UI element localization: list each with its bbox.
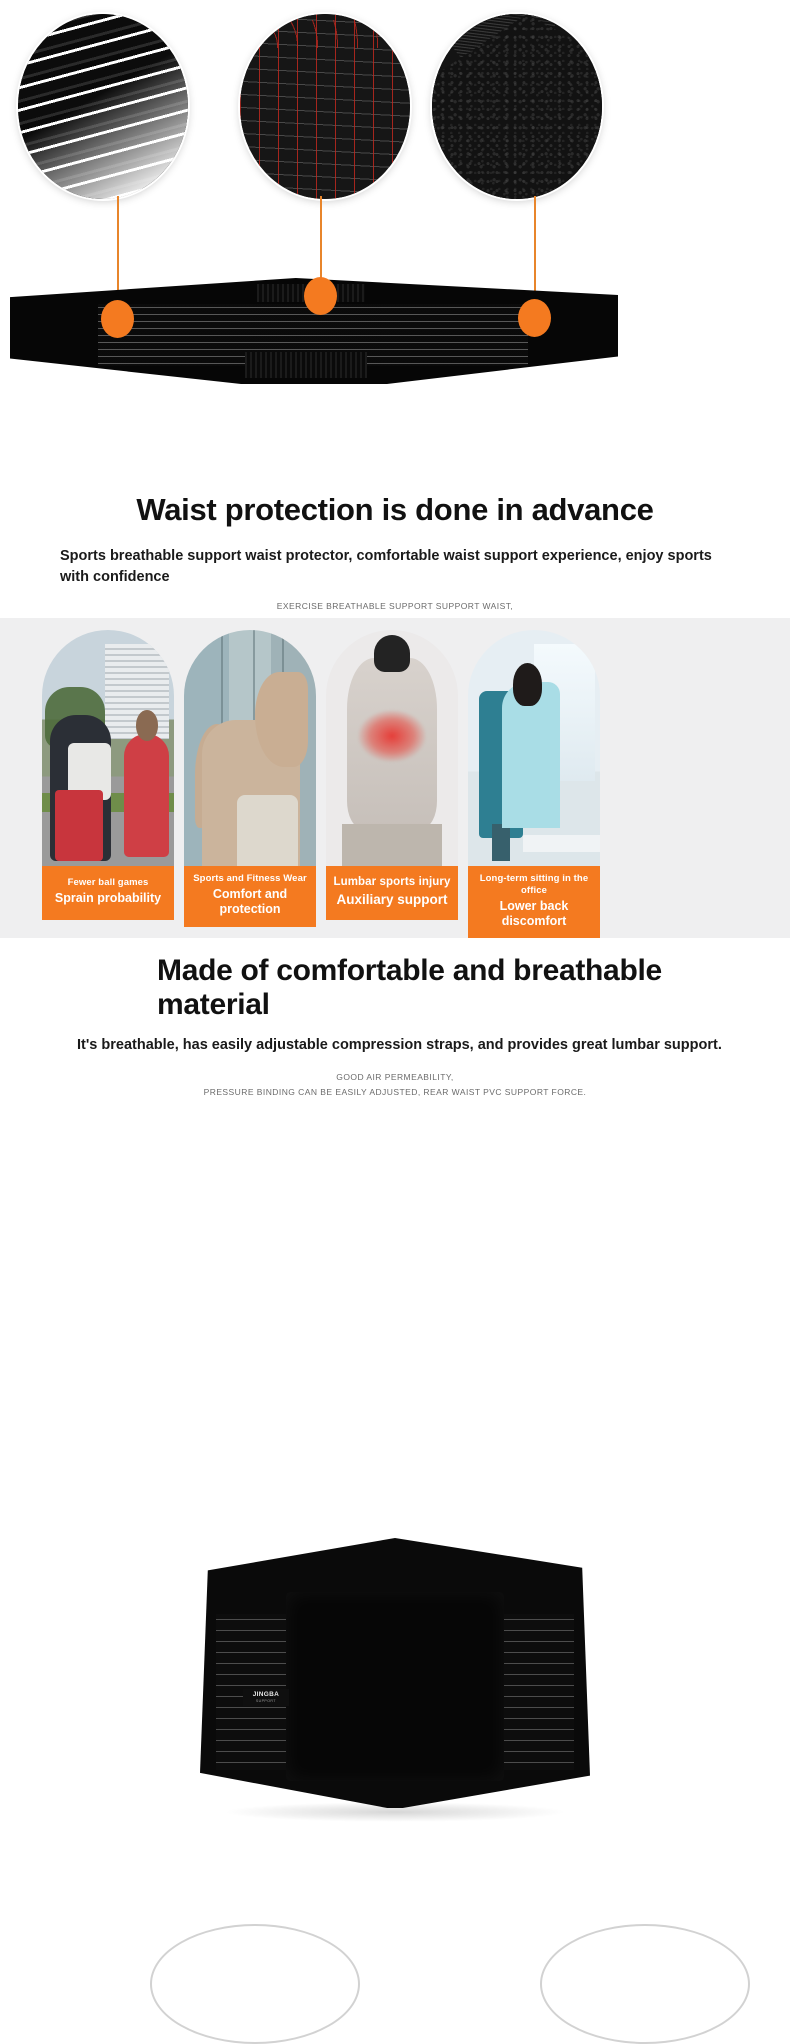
use-case-caption-back-pain: Lumbar sports injury Auxiliary support xyxy=(326,866,458,920)
brand-name-text: JINGBA xyxy=(253,1692,279,1699)
headline-two-subtitle: It's breathable, has easily adjustable c… xyxy=(65,1035,725,1056)
use-case-caption-basketball: Fewer ball games Sprain probability xyxy=(42,866,174,920)
headline-two-caps-line-2: PRESSURE BINDING CAN BE EASILY ADJUSTED,… xyxy=(0,1085,790,1101)
product-belt-photo: JINGBA SUPPORT xyxy=(200,1538,590,1808)
velcro-fleece-texture xyxy=(432,14,602,199)
use-case-photo-back-pain xyxy=(326,630,458,866)
use-case-photo-basketball xyxy=(42,630,174,866)
headline-two-caps-block: GOOD AIR PERMEABILITY, PRESSURE BINDING … xyxy=(0,1070,790,1101)
use-case-caption-office: Long-term sitting in the office Lower ba… xyxy=(468,866,600,939)
bottom-arc-left xyxy=(150,1924,360,2044)
caption-small-text: Sports and Fitness Wear xyxy=(188,873,312,885)
caption-small-text: Lumbar sports injury xyxy=(330,875,454,889)
callouts-section xyxy=(0,0,790,470)
detail-circle-row xyxy=(0,12,790,202)
bottom-arc-right xyxy=(540,1924,750,2044)
bottom-arcs-section xyxy=(0,1878,790,1948)
use-case-caption-fitness: Sports and Fitness Wear Comfort and prot… xyxy=(184,866,316,927)
use-case-card-row: Fewer ball games Sprain probability Spor… xyxy=(0,618,790,939)
detail-circle-red-stitched-mesh xyxy=(240,14,410,199)
belt-bottom-strap-tab xyxy=(245,352,367,378)
caption-big-text: Sprain probability xyxy=(46,891,170,907)
detail-circle-ribbed-elastic xyxy=(18,14,188,199)
headline-two-caps-line-1: GOOD AIR PERMEABILITY, xyxy=(0,1070,790,1086)
brand-sub-text: SUPPORT xyxy=(256,1700,276,1704)
headline-one-subtitle: Sports breathable support waist protecto… xyxy=(60,546,730,587)
use-case-photo-situps xyxy=(184,630,316,866)
headline-one-title: Waist protection is done in advance xyxy=(0,492,790,528)
use-cases-section: Fewer ball games Sprain probability Spor… xyxy=(0,618,790,938)
product-photo-section: JINGBA SUPPORT xyxy=(0,1158,790,1878)
texture-fade-overlay xyxy=(18,14,188,199)
use-case-card-basketball[interactable]: Fewer ball games Sprain probability xyxy=(42,630,174,939)
callout-marker-dot-3 xyxy=(518,299,551,337)
brand-label: JINGBA SUPPORT xyxy=(243,1689,289,1706)
use-case-card-office[interactable]: Long-term sitting in the office Lower ba… xyxy=(468,630,600,939)
belt-right-ribbed-wing xyxy=(500,1614,574,1771)
use-case-card-fitness[interactable]: Sports and Fitness Wear Comfort and prot… xyxy=(184,630,316,939)
detail-circle-velcro-fleece xyxy=(432,14,602,199)
caption-small-text: Fewer ball games xyxy=(46,877,170,889)
caption-small-text: Long-term sitting in the office xyxy=(472,873,596,897)
pain-glow-indicator xyxy=(358,710,427,762)
headline-one-caps-line-1: EXERCISE BREATHABLE SUPPORT SUPPORT WAIS… xyxy=(0,599,790,615)
headline-two-section: Made of comfortable and breathable mater… xyxy=(0,938,790,1158)
product-drop-shadow xyxy=(223,1802,566,1822)
headline-one-section: Waist protection is done in advance Spor… xyxy=(0,470,790,618)
callout-marker-dot-2 xyxy=(304,277,337,315)
callout-marker-dot-1 xyxy=(101,300,134,338)
headline-two-title: Made of comfortable and breathable mater… xyxy=(75,954,715,1021)
caption-big-text: Auxiliary support xyxy=(330,892,454,909)
caption-big-text: Lower back discomfort xyxy=(472,899,596,930)
use-case-photo-office xyxy=(468,630,600,866)
belt-front-velcro-panel xyxy=(286,1592,504,1781)
red-stitch-loops xyxy=(240,20,410,48)
use-case-card-back-pain[interactable]: Lumbar sports injury Auxiliary support xyxy=(326,630,458,939)
caption-big-text: Comfort and protection xyxy=(188,887,312,918)
